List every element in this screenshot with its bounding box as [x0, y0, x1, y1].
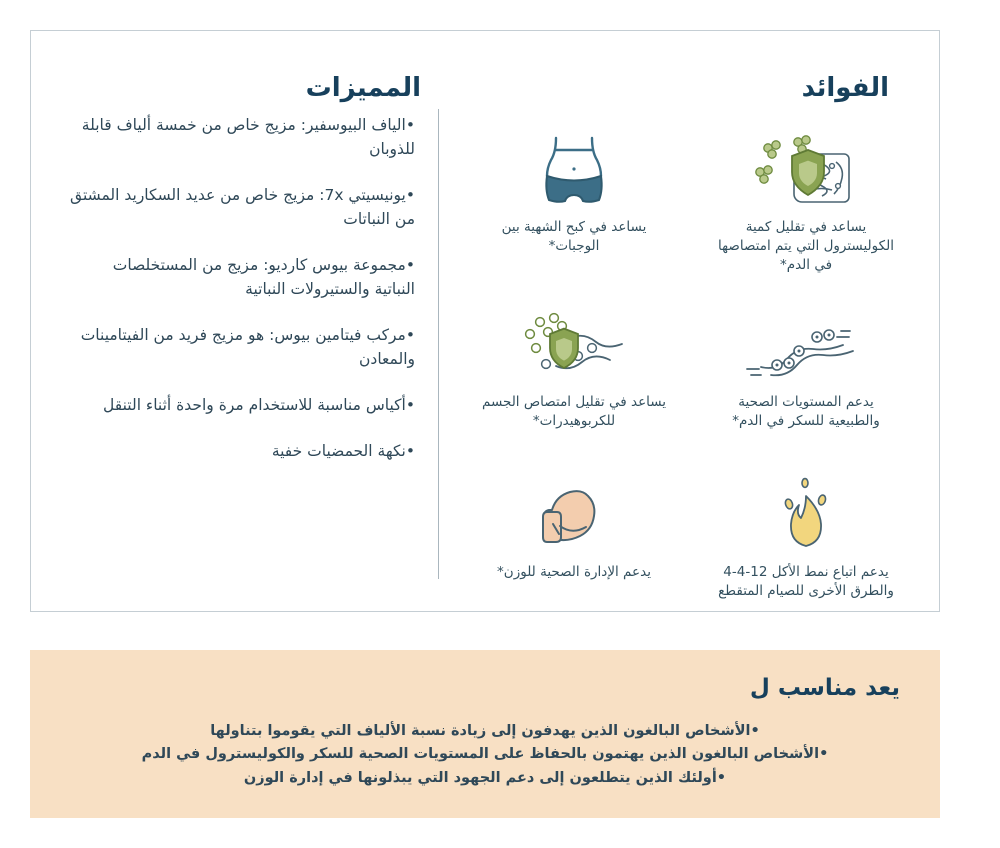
list-item: •الأشخاص البالغون الذين يهتمون بالحفاظ ع… [70, 743, 900, 766]
suitable-for-panel: يعد مناسب ل •الأشخاص البالغون الذين يهدف… [30, 650, 940, 818]
benefit-item: يدعم الإدارة الصحية للوزن* [459, 471, 689, 582]
features-benefits-card: الفوائد المميزات •الياف البيوسفير: مزيج … [30, 30, 940, 612]
benefits-grid: يساعد في تقليل كمية الكوليسترول التي يتم… [451, 126, 921, 606]
benefit-caption: يدعم المستويات الصحية والطبيعية للسكر في… [691, 393, 921, 431]
benefit-item: يدعم اتباع نمط الأكل 12-4-4 والطرق الأخر… [691, 471, 921, 601]
bullet-marker: • [406, 186, 415, 204]
suitable-for-title: يعد مناسب ل [750, 675, 900, 701]
bullet-marker: • [819, 746, 828, 762]
list-item: •أولئك الذين يتطلعون إلى دعم الجهود التي… [70, 767, 900, 790]
benefit-item: يساعد في تقليل امتصاص الجسم للكربوهيدرات… [459, 301, 689, 431]
bullet-marker: • [406, 256, 415, 274]
column-divider [438, 109, 439, 579]
feature-text: مجموعة بيوس كارديو: مزيج من المستخلصات ا… [113, 256, 415, 298]
bullet-marker: • [406, 326, 415, 344]
feature-item: •مجموعة بيوس كارديو: مزيج من المستخلصات … [69, 253, 419, 301]
slim-torso-icon [459, 126, 689, 218]
bullet-marker: • [406, 396, 415, 414]
flame-icon [691, 471, 921, 563]
list-item-text: أولئك الذين يتطلعون إلى دعم الجهود التي … [244, 770, 717, 786]
bullet-marker: • [406, 116, 415, 134]
benefit-caption: يساعد في تقليل كمية الكوليسترول التي يتم… [691, 218, 921, 275]
feature-item: •الياف البيوسفير: مزيج خاص من خمسة ألياف… [69, 113, 419, 161]
list-item: •الأشخاص البالغون الذين يهدفون إلى زيادة… [70, 720, 900, 743]
shield-carbs-icon [459, 301, 689, 393]
list-item-text: الأشخاص البالغون الذين يهدفون إلى زيادة … [210, 723, 750, 739]
feature-text: مركب فيتامين بيوس: هو مزيج فريد من الفيت… [81, 326, 415, 368]
benefits-heading: الفوائد [802, 73, 889, 103]
features-heading: المميزات [306, 73, 421, 103]
benefit-caption: يساعد في كبح الشهية بين الوجبات* [459, 218, 689, 256]
shield-intestines-icon [691, 126, 921, 218]
feature-item: •مركب فيتامين بيوس: هو مزيج فريد من الفي… [69, 323, 419, 371]
feature-text: الياف البيوسفير: مزيج خاص من خمسة ألياف … [82, 116, 415, 158]
features-list: •الياف البيوسفير: مزيج خاص من خمسة ألياف… [69, 113, 419, 485]
benefit-item: يساعد في تقليل كمية الكوليسترول التي يتم… [691, 126, 921, 275]
benefit-caption: يساعد في تقليل امتصاص الجسم للكربوهيدرات… [459, 393, 689, 431]
feature-item: •يونيسيتي 7x: مزيج خاص من عديد السكاريد … [69, 183, 419, 231]
feature-item: •أكياس مناسبة للاستخدام مرة واحدة أثناء … [69, 393, 419, 417]
benefit-caption: يدعم الإدارة الصحية للوزن* [459, 563, 689, 582]
feature-text: نكهة الحمضيات خفية [272, 442, 406, 460]
feature-text: يونيسيتي 7x: مزيج خاص من عديد السكاريد ا… [70, 186, 415, 228]
benefit-item: يدعم المستويات الصحية والطبيعية للسكر في… [691, 301, 921, 431]
benefit-caption: يدعم اتباع نمط الأكل 12-4-4 والطرق الأخر… [691, 563, 921, 601]
bullet-marker: • [751, 723, 760, 739]
feature-item: •نكهة الحمضيات خفية [69, 439, 419, 463]
card-headings: الفوائد المميزات [31, 73, 939, 113]
blood-vessel-cells-icon [691, 301, 921, 393]
feature-text: أكياس مناسبة للاستخدام مرة واحدة أثناء ا… [103, 396, 406, 414]
bullet-marker: • [406, 442, 415, 460]
benefit-item: يساعد في كبح الشهية بين الوجبات* [459, 126, 689, 256]
bullet-marker: • [717, 770, 726, 786]
flexed-bicep-icon [459, 471, 689, 563]
list-item-text: الأشخاص البالغون الذين يهتمون بالحفاظ عل… [142, 746, 819, 762]
suitable-for-list: •الأشخاص البالغون الذين يهدفون إلى زيادة… [70, 720, 900, 790]
